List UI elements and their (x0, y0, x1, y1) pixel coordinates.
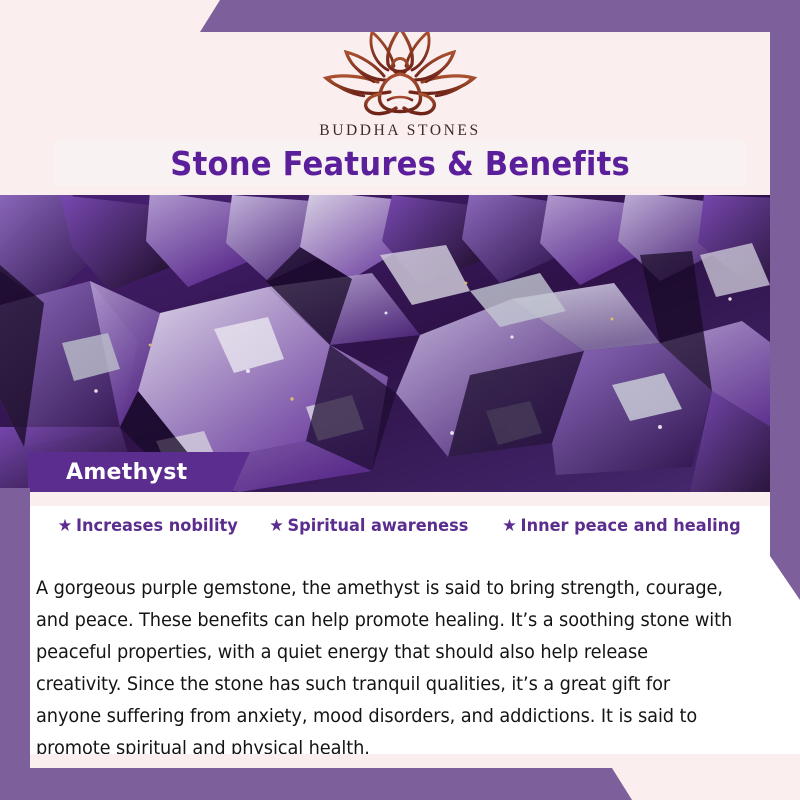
content-top-band (0, 492, 800, 506)
star-icon: ★ (58, 518, 72, 535)
amethyst-hero-image (0, 195, 800, 492)
benefit-item-1: ★ Increases nobility (58, 516, 238, 536)
brand-logo: BUDDHA STONES (0, 22, 800, 140)
benefit-item-3: ★ Inner peace and healing (502, 516, 740, 536)
star-icon: ★ (502, 518, 516, 535)
brand-name: BUDDHA STONES (0, 122, 800, 140)
stone-name-text: Amethyst (28, 460, 187, 485)
card-content: ★ Increases nobility ★ Spiritual awarene… (0, 492, 800, 800)
frame-accent-left (0, 488, 30, 778)
stone-description: A gorgeous purple gemstone, the amethyst… (36, 573, 733, 765)
benefit-item-2: ★ Spiritual awareness (270, 516, 469, 536)
benefit-label-1: Increases nobility (76, 516, 238, 536)
benefits-list: ★ Increases nobility ★ Spiritual awarene… (0, 516, 800, 536)
page-title: Stone Features & Benefits (54, 140, 746, 186)
stone-info-card: BUDDHA STONES Stone Features & Benefits (0, 0, 800, 800)
benefit-label-3: Inner peace and healing (521, 516, 741, 536)
stone-name-banner: Amethyst (28, 452, 250, 492)
amethyst-crystal-illustration (0, 195, 800, 492)
benefit-label-2: Spiritual awareness (288, 516, 469, 536)
page-title-text: Stone Features & Benefits (170, 144, 630, 183)
star-icon: ★ (270, 518, 284, 535)
lotus-meditation-icon (316, 22, 484, 118)
frame-accent-right (770, 0, 800, 600)
